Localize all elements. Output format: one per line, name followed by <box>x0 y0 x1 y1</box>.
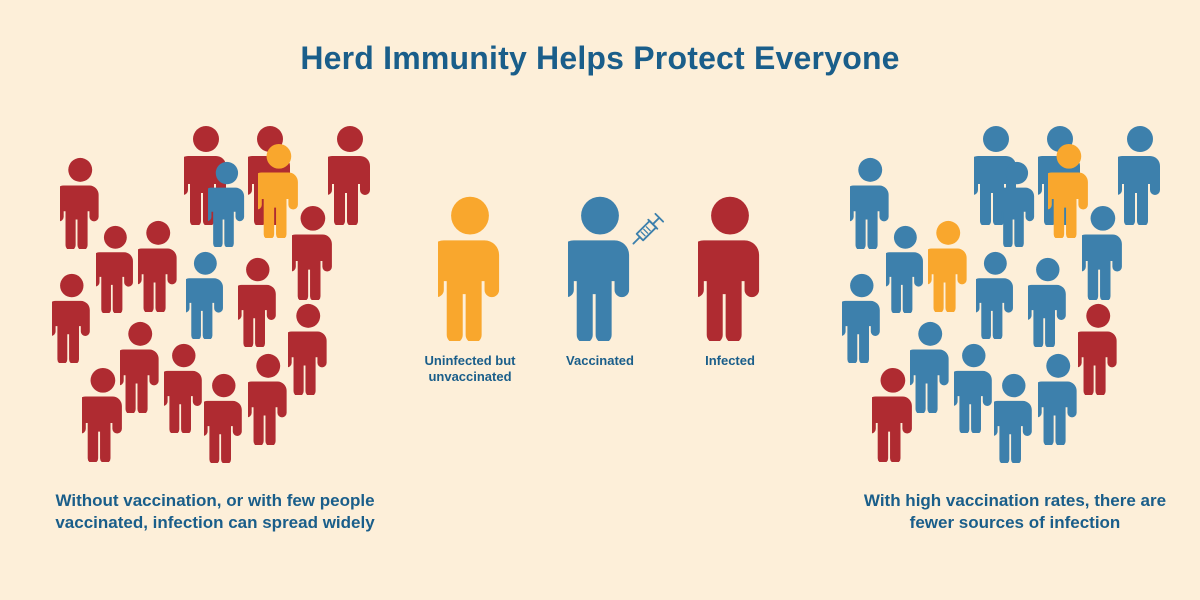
person-figure-infected <box>138 220 178 312</box>
legend-label: Infected <box>670 353 790 369</box>
legend-figure-icon <box>540 195 660 345</box>
person-figure-infected <box>248 353 288 445</box>
person-figure-vaccinated <box>954 343 994 433</box>
person-figure-vaccinated <box>850 157 890 249</box>
legend-label: Uninfected but unvaccinated <box>410 353 530 386</box>
caption-left: Without vaccination, or with few people … <box>45 490 385 534</box>
person-figure-infected <box>328 125 372 225</box>
person-figure-vaccinated <box>208 161 246 247</box>
legend-label: Vaccinated <box>540 353 660 369</box>
legend-figure-icon <box>670 195 790 345</box>
legend: Uninfected but unvaccinatedVaccinatedInf… <box>400 195 800 395</box>
person-figure-vaccinated <box>1118 125 1162 225</box>
person-figure-infected <box>292 205 334 300</box>
person-figure-infected <box>82 367 124 462</box>
person-figure-infected <box>204 373 244 463</box>
person-figure-infected <box>872 367 914 462</box>
person-figure-vaccinated <box>910 321 950 413</box>
person-figure-infected <box>52 273 92 363</box>
person-figure-vaccinated <box>998 161 1036 247</box>
person-figure-vaccinated <box>976 251 1015 339</box>
person-figure-infected <box>288 303 328 395</box>
page-title: Herd Immunity Helps Protect Everyone <box>0 40 1200 77</box>
legend-item-uninfected: Uninfected but unvaccinated <box>410 195 530 386</box>
legend-item-vaccinated: Vaccinated <box>540 195 660 369</box>
person-figure-vaccinated <box>186 251 225 339</box>
person-figure-vaccinated <box>1038 353 1078 445</box>
person-figure-infected <box>164 343 204 433</box>
person-figure-vaccinated <box>1028 257 1068 347</box>
person-figure-uninfected <box>928 220 968 312</box>
infographic-canvas: Herd Immunity Helps Protect Everyone Uni… <box>0 0 1200 600</box>
person-figure-vaccinated <box>1082 205 1124 300</box>
syringe-icon <box>626 209 668 256</box>
crowd-right-vaccinated <box>842 125 1162 470</box>
crowd-left-unvaccinated <box>52 125 372 470</box>
person-figure-vaccinated <box>886 225 925 313</box>
legend-figure-icon <box>410 195 530 345</box>
person-figure-vaccinated <box>994 373 1034 463</box>
person-figure-infected <box>60 157 100 249</box>
legend-item-infected: Infected <box>670 195 790 369</box>
person-figure-vaccinated <box>842 273 882 363</box>
person-figure-infected <box>238 257 278 347</box>
person-figure-infected <box>96 225 135 313</box>
person-figure-infected <box>1078 303 1118 395</box>
caption-right: With high vaccination rates, there are f… <box>845 490 1185 534</box>
person-figure-infected <box>120 321 160 413</box>
